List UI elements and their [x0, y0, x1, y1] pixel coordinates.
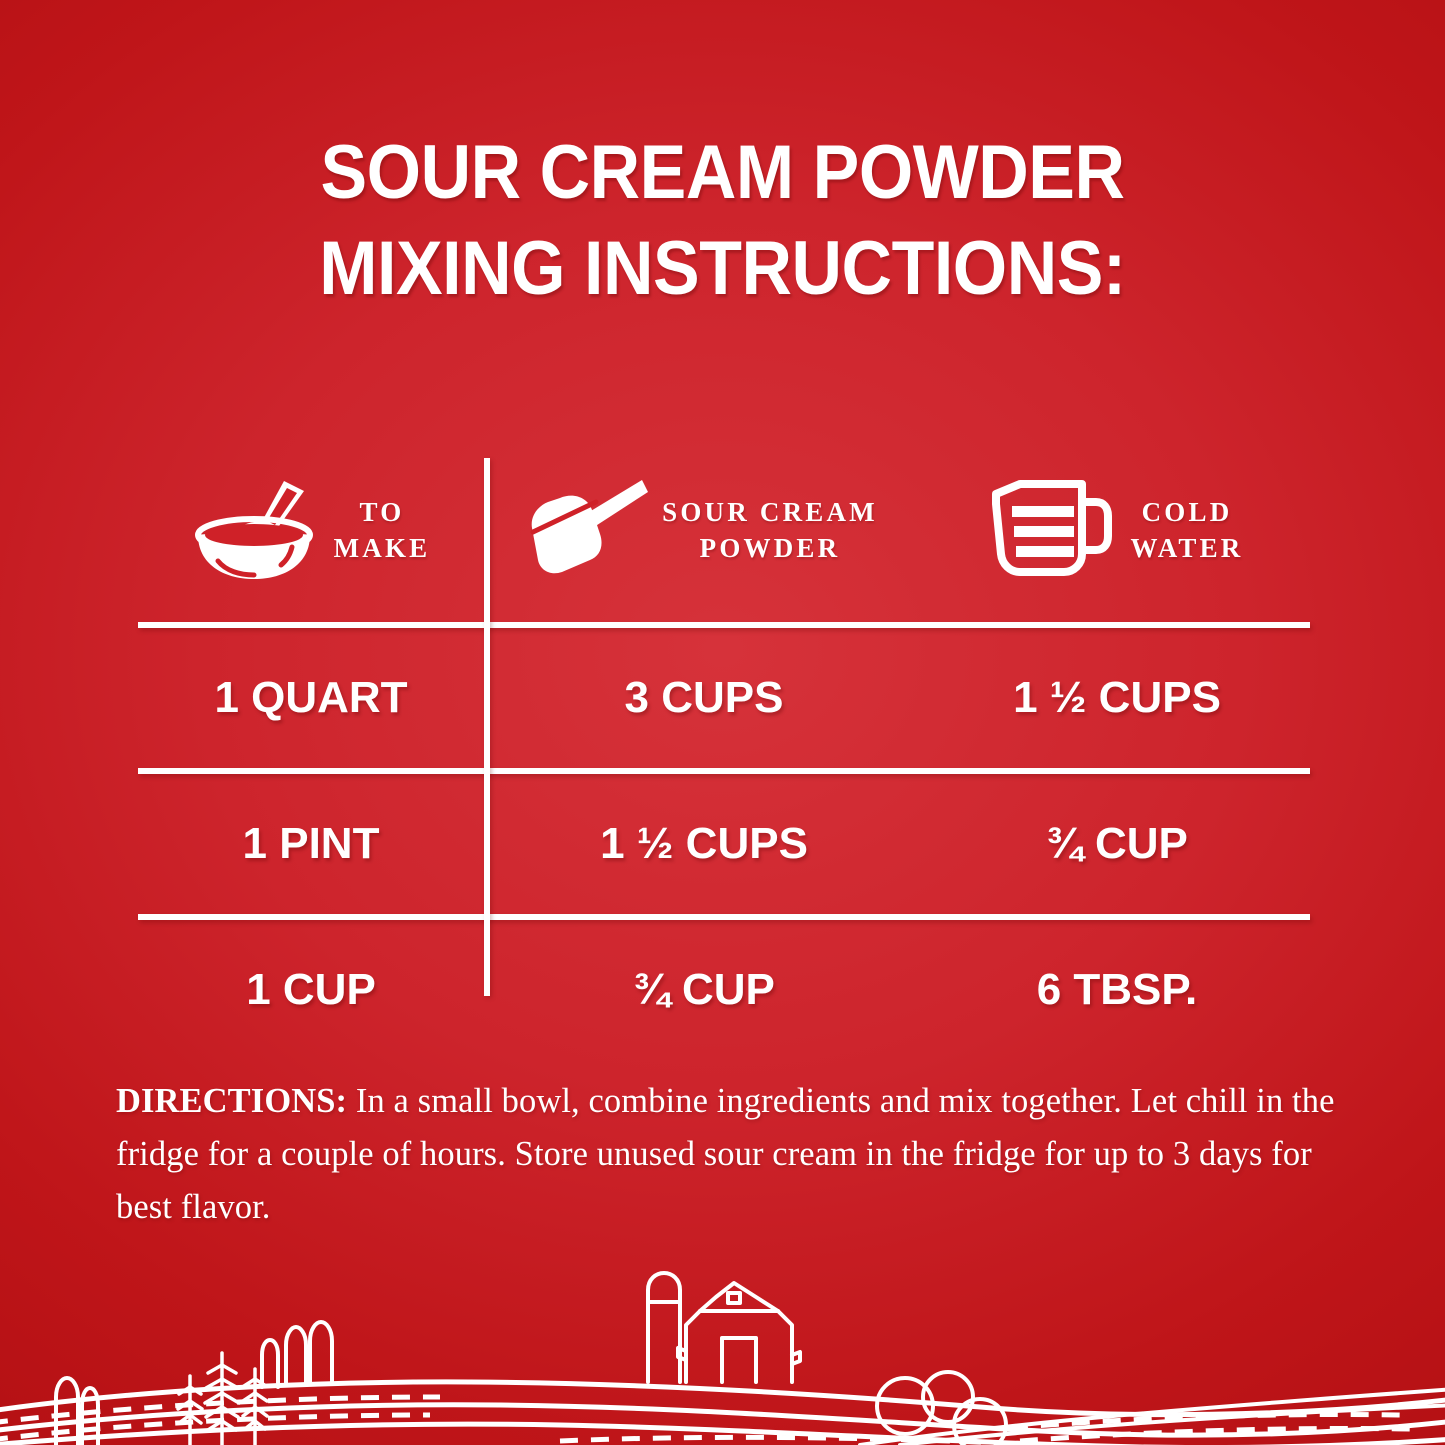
- measuring-cup-icon: [990, 480, 1112, 583]
- table-cell-value: 1 CUP: [246, 965, 376, 1014]
- table-cell-value: ¾ CUP: [1046, 819, 1188, 868]
- table-cell-value: ¾ CUP: [633, 965, 775, 1014]
- table-cell-powder: ¾ CUP: [484, 965, 924, 1015]
- table-cell-water: ¾ CUP: [924, 819, 1310, 869]
- table-header-to-make-label: TOMAKE: [334, 495, 431, 566]
- title-line-2: MIXING INSTRUCTIONS:: [131, 228, 1313, 310]
- table-cell-to-make: 1 CUP: [138, 965, 484, 1015]
- table-cell-value: 1 QUART: [214, 673, 407, 722]
- table-row: 1 CUP ¾ CUP 6 TBSP.: [138, 920, 1310, 1060]
- table-header-sour-cream-powder: SOUR CREAMPOWDER: [484, 476, 924, 587]
- table-vertical-divider: [484, 458, 490, 996]
- table-cell-water: 6 TBSP.: [924, 965, 1310, 1015]
- table-cell-to-make: 1 QUART: [138, 673, 484, 723]
- table-cell-value: 3 CUPS: [625, 673, 784, 722]
- directions-paragraph: DIRECTIONS: In a small bowl, combine ing…: [116, 1075, 1336, 1234]
- table-cell-to-make: 1 PINT: [138, 819, 484, 869]
- scoop-icon: [530, 476, 648, 587]
- mixing-bowl-whisk-icon: [192, 477, 316, 586]
- table-header-cold-water: COLDWATER: [924, 480, 1310, 583]
- table-cell-value: 1 ½ CUPS: [1013, 673, 1221, 722]
- table-header-cold-water-label: COLDWATER: [1130, 495, 1243, 566]
- table-cell-value: 1 ½ CUPS: [600, 819, 808, 868]
- table-cell-powder: 3 CUPS: [484, 673, 924, 723]
- mixing-ratio-table: TOMAKE SOUR CREAMPO: [138, 440, 1310, 1060]
- barn-icon: [678, 1283, 800, 1382]
- table-cell-value: 1 PINT: [243, 819, 380, 868]
- farm-landscape-illustration: [0, 1245, 1445, 1445]
- cypress-tree-cluster-center: [262, 1322, 332, 1387]
- table-cell-powder: 1 ½ CUPS: [484, 819, 924, 869]
- table-header-to-make: TOMAKE: [138, 477, 484, 586]
- table-cell-water: 1 ½ CUPS: [924, 673, 1310, 723]
- table-cell-value: 6 TBSP.: [1037, 965, 1198, 1014]
- title-line-1: SOUR CREAM POWDER: [131, 132, 1313, 214]
- table-header-row: TOMAKE SOUR CREAMPO: [138, 440, 1310, 622]
- silo-icon: [648, 1273, 680, 1382]
- table-row: 1 QUART 3 CUPS 1 ½ CUPS: [138, 628, 1310, 768]
- sour-cream-powder-instruction-panel: SOUR CREAM POWDER MIXING INSTRUCTIONS:: [0, 0, 1445, 1445]
- table-row: 1 PINT 1 ½ CUPS ¾ CUP: [138, 774, 1310, 914]
- table-header-sour-cream-powder-label: SOUR CREAMPOWDER: [662, 495, 878, 566]
- page-title: SOUR CREAM POWDER MIXING INSTRUCTIONS:: [0, 132, 1445, 310]
- directions-label: DIRECTIONS:: [116, 1082, 347, 1120]
